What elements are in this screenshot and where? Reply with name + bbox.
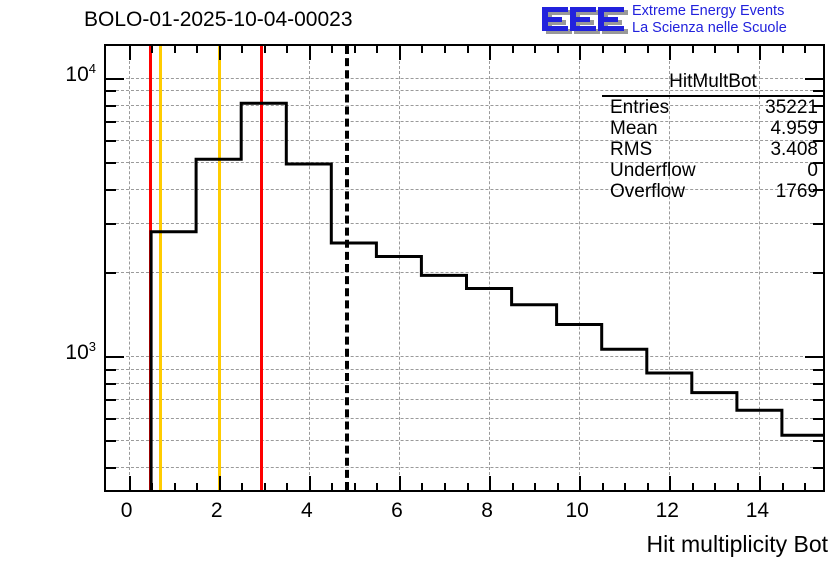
x-axis-tick xyxy=(331,483,333,490)
x-axis-tick xyxy=(196,483,198,490)
y-axis-tick-right xyxy=(805,356,823,358)
y-tick-mantissa: 10 xyxy=(65,63,88,86)
x-axis-tick-top xyxy=(714,46,716,53)
x-axis-tick-top xyxy=(579,46,581,60)
y-axis-tick xyxy=(106,418,116,420)
y-tick-label: 104 xyxy=(44,61,96,87)
x-axis-tick-top xyxy=(264,46,266,53)
x-axis-tick xyxy=(669,476,671,490)
stats-row-value: 4.959 xyxy=(770,118,818,139)
y-axis-tick-right xyxy=(813,418,823,420)
stats-row: Underflow0 xyxy=(602,160,824,181)
x-axis-tick-top xyxy=(489,46,491,60)
x-axis-tick-top xyxy=(624,46,626,53)
x-axis-tick-top xyxy=(692,46,694,53)
y-axis-tick xyxy=(106,105,116,107)
x-axis-tick-top xyxy=(151,46,153,53)
x-axis-tick-top xyxy=(309,46,311,60)
stats-row-label: RMS xyxy=(610,139,652,160)
y-axis-tick xyxy=(106,272,116,274)
x-axis-tick-top xyxy=(647,46,649,53)
y-axis-tick-right xyxy=(813,369,823,371)
x-axis-tick xyxy=(804,483,806,490)
logo-line-2: La Scienza nelle Scuole xyxy=(632,20,787,37)
y-axis-tick xyxy=(106,399,116,401)
y-axis-tick-right xyxy=(813,272,823,274)
histogram-canvas: BOLO-01-2025-10-04-00023 xyxy=(0,0,836,572)
x-axis-tick xyxy=(737,483,739,490)
x-axis-tick xyxy=(512,483,514,490)
x-axis-tick xyxy=(467,483,469,490)
stats-row-label: Overflow xyxy=(610,181,685,202)
x-axis-tick-top xyxy=(782,46,784,53)
y-tick-exponent: 4 xyxy=(89,61,96,76)
x-tick-label: 6 xyxy=(391,499,403,523)
x-axis-tick xyxy=(151,483,153,490)
stats-row-value: 0 xyxy=(807,160,818,181)
x-axis-tick-top xyxy=(534,46,536,53)
logo-line-1: Extreme Energy Events xyxy=(632,3,787,20)
x-axis-tick xyxy=(309,476,311,490)
x-axis-tick-top xyxy=(196,46,198,53)
y-tick-label: 103 xyxy=(44,339,96,365)
x-axis-tick xyxy=(714,483,716,490)
x-axis-tick-top xyxy=(354,46,356,53)
x-axis-tick xyxy=(534,483,536,490)
y-axis-tick xyxy=(106,383,116,385)
y-axis-tick xyxy=(106,467,116,469)
y-axis-tick xyxy=(106,356,124,358)
y-axis-tick-right xyxy=(813,383,823,385)
x-axis-tick xyxy=(782,483,784,490)
x-axis-tick xyxy=(421,483,423,490)
y-axis-tick xyxy=(106,440,116,442)
x-tick-label: 2 xyxy=(211,499,223,523)
x-axis-tick xyxy=(489,476,491,490)
stats-row: Mean4.959 xyxy=(602,118,824,139)
x-axis-tick xyxy=(602,483,604,490)
x-tick-label: 12 xyxy=(656,499,679,523)
stats-row-label: Entries xyxy=(610,97,669,118)
x-axis-tick xyxy=(219,476,221,490)
stats-row: Overflow1769 xyxy=(602,181,824,202)
stats-row-value: 3.408 xyxy=(770,139,818,160)
x-axis-tick-top xyxy=(804,46,806,53)
x-axis-tick-top xyxy=(286,46,288,53)
y-axis-tick-right xyxy=(813,223,823,225)
y-axis-tick xyxy=(106,223,116,225)
x-axis-tick xyxy=(241,483,243,490)
stats-row-value: 35221 xyxy=(765,97,818,118)
x-axis-tick xyxy=(174,483,176,490)
x-axis-tick-top xyxy=(467,46,469,53)
x-axis-tick-top xyxy=(512,46,514,53)
x-axis-tick-top xyxy=(737,46,739,53)
page-title: BOLO-01-2025-10-04-00023 xyxy=(84,8,353,32)
x-axis-tick-top xyxy=(421,46,423,53)
y-axis-tick-right xyxy=(813,467,823,469)
y-tick-mantissa: 10 xyxy=(65,341,88,364)
x-axis-tick xyxy=(759,476,761,490)
y-axis-tick xyxy=(106,189,116,191)
x-axis-tick xyxy=(399,476,401,490)
y-axis-tick xyxy=(106,369,116,371)
x-axis-tick-top xyxy=(669,46,671,60)
stats-rows: Entries35221Mean4.959RMS3.408Underflow0O… xyxy=(602,97,824,202)
x-axis-title: Hit multiplicity Bot xyxy=(647,531,828,558)
x-axis-tick xyxy=(692,483,694,490)
y-axis-tick-right xyxy=(813,440,823,442)
x-axis-tick xyxy=(286,483,288,490)
x-axis-tick xyxy=(557,483,559,490)
x-axis-tick-top xyxy=(331,46,333,53)
x-tick-label: 10 xyxy=(565,499,588,523)
x-axis-tick-top xyxy=(219,46,221,60)
x-axis-tick-top xyxy=(174,46,176,53)
stats-box: HitMultBot Entries35221Mean4.959RMS3.408… xyxy=(602,70,824,207)
x-tick-label: 14 xyxy=(746,499,769,523)
y-axis-tick-right xyxy=(813,399,823,401)
x-axis-tick xyxy=(264,483,266,490)
y-axis-tick xyxy=(106,78,124,80)
stats-row: RMS3.408 xyxy=(602,139,824,160)
y-axis-tick xyxy=(106,162,116,164)
stats-title: HitMultBot xyxy=(602,70,824,97)
x-axis-tick-top xyxy=(241,46,243,53)
stats-row-label: Mean xyxy=(610,118,658,139)
y-axis-tick xyxy=(106,140,116,142)
x-axis-tick-top xyxy=(557,46,559,53)
x-tick-label: 8 xyxy=(481,499,493,523)
x-axis-tick xyxy=(579,476,581,490)
x-axis-tick-top xyxy=(444,46,446,53)
y-tick-exponent: 3 xyxy=(89,339,96,354)
stats-row-label: Underflow xyxy=(610,160,696,181)
y-axis-tick xyxy=(106,90,116,92)
x-axis-tick-top xyxy=(376,46,378,53)
x-axis-tick-top xyxy=(399,46,401,60)
eee-logo: Extreme Energy Events La Scienza nelle S… xyxy=(536,2,836,42)
x-axis-tick xyxy=(354,483,356,490)
x-axis-tick xyxy=(129,476,131,490)
stats-row: Entries35221 xyxy=(602,97,824,118)
x-axis-tick-top xyxy=(602,46,604,53)
y-axis-tick xyxy=(106,121,116,123)
x-tick-label: 4 xyxy=(301,499,313,523)
x-axis-tick xyxy=(624,483,626,490)
x-axis-tick xyxy=(376,483,378,490)
x-axis-tick xyxy=(647,483,649,490)
x-tick-label: 0 xyxy=(121,499,133,523)
x-axis-tick-top xyxy=(129,46,131,60)
x-axis-tick-top xyxy=(759,46,761,60)
stats-row-value: 1769 xyxy=(776,181,818,202)
x-axis-tick xyxy=(444,483,446,490)
